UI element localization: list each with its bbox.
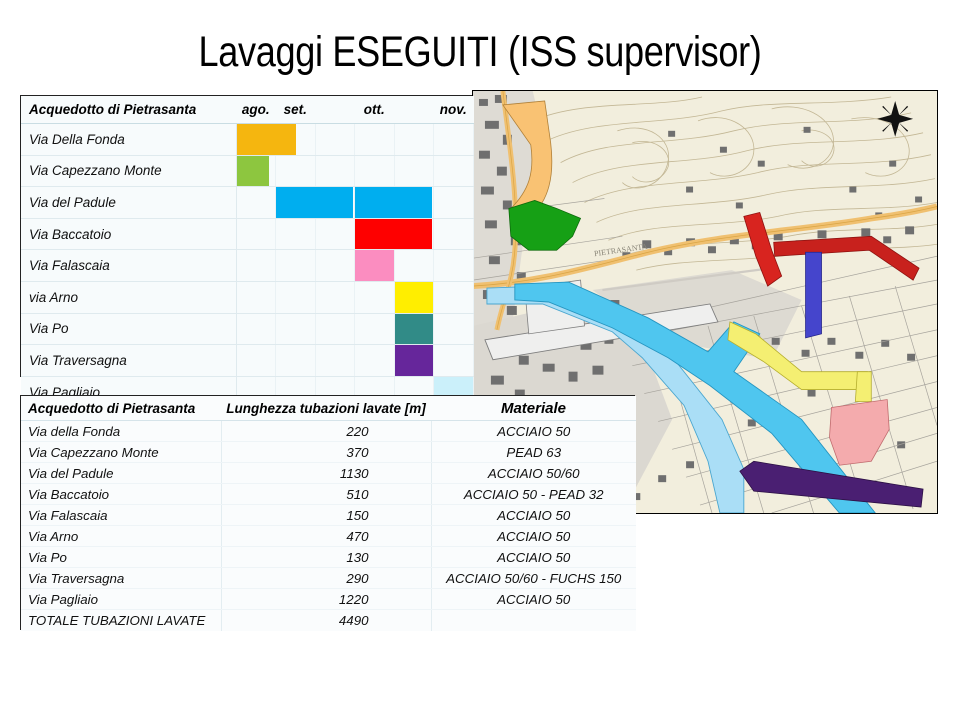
summary-cell-length: 510 [221, 484, 431, 505]
schedule-cell[interactable] [276, 281, 316, 313]
schedule-row-label: Via Capezzano Monte [21, 155, 236, 187]
schedule-cell[interactable] [434, 155, 474, 187]
schedule-cell[interactable] [394, 124, 434, 156]
summary-cell-street: Via Arno [21, 526, 221, 547]
summary-cell-material: ACCIAIO 50 [431, 526, 636, 547]
summary-header-length: Lunghezza tubazioni lavate [m] [221, 396, 431, 421]
summary-cell-length: 4490 [221, 610, 431, 631]
summary-cell-street: Via Pagliaio [21, 589, 221, 610]
schedule-cell[interactable] [394, 281, 434, 313]
schedule-cell[interactable] [355, 345, 395, 377]
schedule-row[interactable]: Via Po [21, 313, 473, 345]
page-title: Lavaggi ESEGUITI (ISS supervisor) [77, 28, 883, 77]
schedule-cell[interactable] [315, 155, 355, 187]
schedule-cell[interactable] [315, 250, 355, 282]
schedule-row[interactable]: via Arno [21, 281, 473, 313]
summary-cell-material [431, 610, 636, 631]
schedule-fill-block [395, 345, 434, 376]
schedule-header-month-ott: ott. [355, 96, 395, 124]
summary-cell-material: ACCIAIO 50 [431, 505, 636, 526]
schedule-cell[interactable] [276, 124, 316, 156]
summary-row[interactable]: TOTALE TUBAZIONI LAVATE4490 [21, 610, 636, 631]
schedule-row-label: via Arno [21, 281, 236, 313]
pipe-via-po-blue [806, 252, 822, 338]
summary-cell-street: Via Po [21, 547, 221, 568]
pipe-via-arno-yellow-tail [855, 372, 871, 402]
schedule-table[interactable]: Acquedotto di Pietrasanta ago. set. ott.… [20, 95, 472, 377]
schedule-cell[interactable] [434, 250, 474, 282]
schedule-cell[interactable] [434, 218, 474, 250]
schedule-row[interactable]: Via Falascaia [21, 250, 473, 282]
summary-table[interactable]: Acquedotto di Pietrasanta Lunghezza tuba… [20, 395, 635, 630]
schedule-cell[interactable] [355, 124, 395, 156]
schedule-cell[interactable] [315, 345, 355, 377]
summary-row[interactable]: Via Pagliaio1220ACCIAIO 50 [21, 589, 636, 610]
schedule-row[interactable]: Via Capezzano Monte [21, 155, 473, 187]
schedule-cell[interactable] [394, 313, 434, 345]
schedule-cell[interactable] [355, 250, 395, 282]
schedule-cell[interactable] [434, 345, 474, 377]
summary-cell-street: Via del Padule [21, 463, 221, 484]
schedule-cell[interactable] [355, 281, 395, 313]
summary-cell-street: TOTALE TUBAZIONI LAVATE [21, 610, 221, 631]
schedule-cell[interactable] [276, 187, 316, 219]
schedule-cell[interactable] [276, 218, 316, 250]
schedule-cell[interactable] [394, 345, 434, 377]
summary-cell-length: 220 [221, 421, 431, 442]
schedule-cell[interactable] [315, 281, 355, 313]
schedule-cell[interactable] [236, 155, 276, 187]
schedule-cell[interactable] [315, 218, 355, 250]
summary-cell-material: ACCIAIO 50 [431, 421, 636, 442]
summary-header-street: Acquedotto di Pietrasanta [21, 396, 221, 421]
schedule-cell[interactable] [276, 313, 316, 345]
summary-cell-street: Via Capezzano Monte [21, 442, 221, 463]
schedule-row-label: Via Baccatoio [21, 218, 236, 250]
summary-cell-material: ACCIAIO 50 [431, 589, 636, 610]
schedule-fill-block [395, 314, 434, 345]
summary-cell-street: Via Falascaia [21, 505, 221, 526]
schedule-cell[interactable] [276, 250, 316, 282]
summary-cell-length: 150 [221, 505, 431, 526]
summary-cell-street: Via Traversagna [21, 568, 221, 589]
schedule-cell[interactable] [394, 187, 434, 219]
schedule-header-month-set: set. [276, 96, 316, 124]
summary-row[interactable]: Via della Fonda220ACCIAIO 50 [21, 421, 636, 442]
schedule-row-label: Via del Padule [21, 187, 236, 219]
summary-cell-length: 130 [221, 547, 431, 568]
schedule-cell[interactable] [434, 313, 474, 345]
summary-header-material: Materiale [431, 396, 636, 421]
schedule-row-label: Via Po [21, 313, 236, 345]
summary-header-row: Acquedotto di Pietrasanta Lunghezza tuba… [21, 396, 636, 421]
schedule-cell[interactable] [434, 281, 474, 313]
summary-row[interactable]: Via Po130ACCIAIO 50 [21, 547, 636, 568]
summary-cell-material: ACCIAIO 50 [431, 547, 636, 568]
summary-cell-material: ACCIAIO 50 - PEAD 32 [431, 484, 636, 505]
schedule-cell[interactable] [236, 124, 276, 156]
schedule-cell[interactable] [394, 250, 434, 282]
schedule-row[interactable]: Via del Padule [21, 187, 473, 219]
schedule-cell[interactable] [315, 313, 355, 345]
summary-row[interactable]: Via Baccatoio510ACCIAIO 50 - PEAD 32 [21, 484, 636, 505]
schedule-cell[interactable] [355, 313, 395, 345]
summary-cell-length: 1220 [221, 589, 431, 610]
schedule-cell[interactable] [236, 250, 276, 282]
schedule-cell[interactable] [355, 218, 395, 250]
schedule-cell[interactable] [355, 187, 395, 219]
schedule-cell[interactable] [434, 124, 474, 156]
schedule-fill-block [395, 282, 434, 313]
summary-cell-length: 290 [221, 568, 431, 589]
summary-cell-length: 1130 [221, 463, 431, 484]
summary-row[interactable]: Via Capezzano Monte370PEAD 63 [21, 442, 636, 463]
summary-row[interactable]: Via Falascaia150ACCIAIO 50 [21, 505, 636, 526]
schedule-header-row: Acquedotto di Pietrasanta ago. set. ott.… [21, 96, 473, 124]
schedule-header-month-ago: ago. [236, 96, 276, 124]
schedule-cell[interactable] [394, 218, 434, 250]
schedule-row-label: Via Falascaia [21, 250, 236, 282]
schedule-cell[interactable] [355, 155, 395, 187]
schedule-cell[interactable] [276, 345, 316, 377]
summary-cell-length: 470 [221, 526, 431, 547]
schedule-cell[interactable] [276, 155, 316, 187]
schedule-header-label: Acquedotto di Pietrasanta [21, 96, 236, 124]
schedule-fill-block [355, 250, 394, 281]
summary-cell-material: ACCIAIO 50/60 - FUCHS 150 [431, 568, 636, 589]
summary-cell-street: Via Baccatoio [21, 484, 221, 505]
schedule-cell[interactable] [236, 313, 276, 345]
summary-row[interactable]: Via Traversagna290ACCIAIO 50/60 - FUCHS … [21, 568, 636, 589]
schedule-row-label: Via Della Fonda [21, 124, 236, 156]
summary-row[interactable]: Via del Padule1130ACCIAIO 50/60 [21, 463, 636, 484]
schedule-row[interactable]: Via Traversagna [21, 345, 473, 377]
schedule-cell[interactable] [394, 155, 434, 187]
schedule-row[interactable]: Via Baccatoio [21, 218, 473, 250]
schedule-cell[interactable] [315, 124, 355, 156]
schedule-cell[interactable] [236, 218, 276, 250]
schedule-row-label: Via Traversagna [21, 345, 236, 377]
schedule-fill-block [237, 156, 270, 187]
schedule-row[interactable]: Via Della Fonda [21, 124, 473, 156]
summary-row[interactable]: Via Arno470ACCIAIO 50 [21, 526, 636, 547]
schedule-header-month-nov: nov. [434, 96, 474, 124]
schedule-cell[interactable] [315, 187, 355, 219]
schedule-cell[interactable] [236, 281, 276, 313]
schedule-cell[interactable] [236, 345, 276, 377]
schedule-cell[interactable] [236, 187, 276, 219]
summary-cell-street: Via della Fonda [21, 421, 221, 442]
summary-cell-length: 370 [221, 442, 431, 463]
summary-cell-material: PEAD 63 [431, 442, 636, 463]
schedule-cell[interactable] [434, 187, 474, 219]
summary-cell-material: ACCIAIO 50/60 [431, 463, 636, 484]
